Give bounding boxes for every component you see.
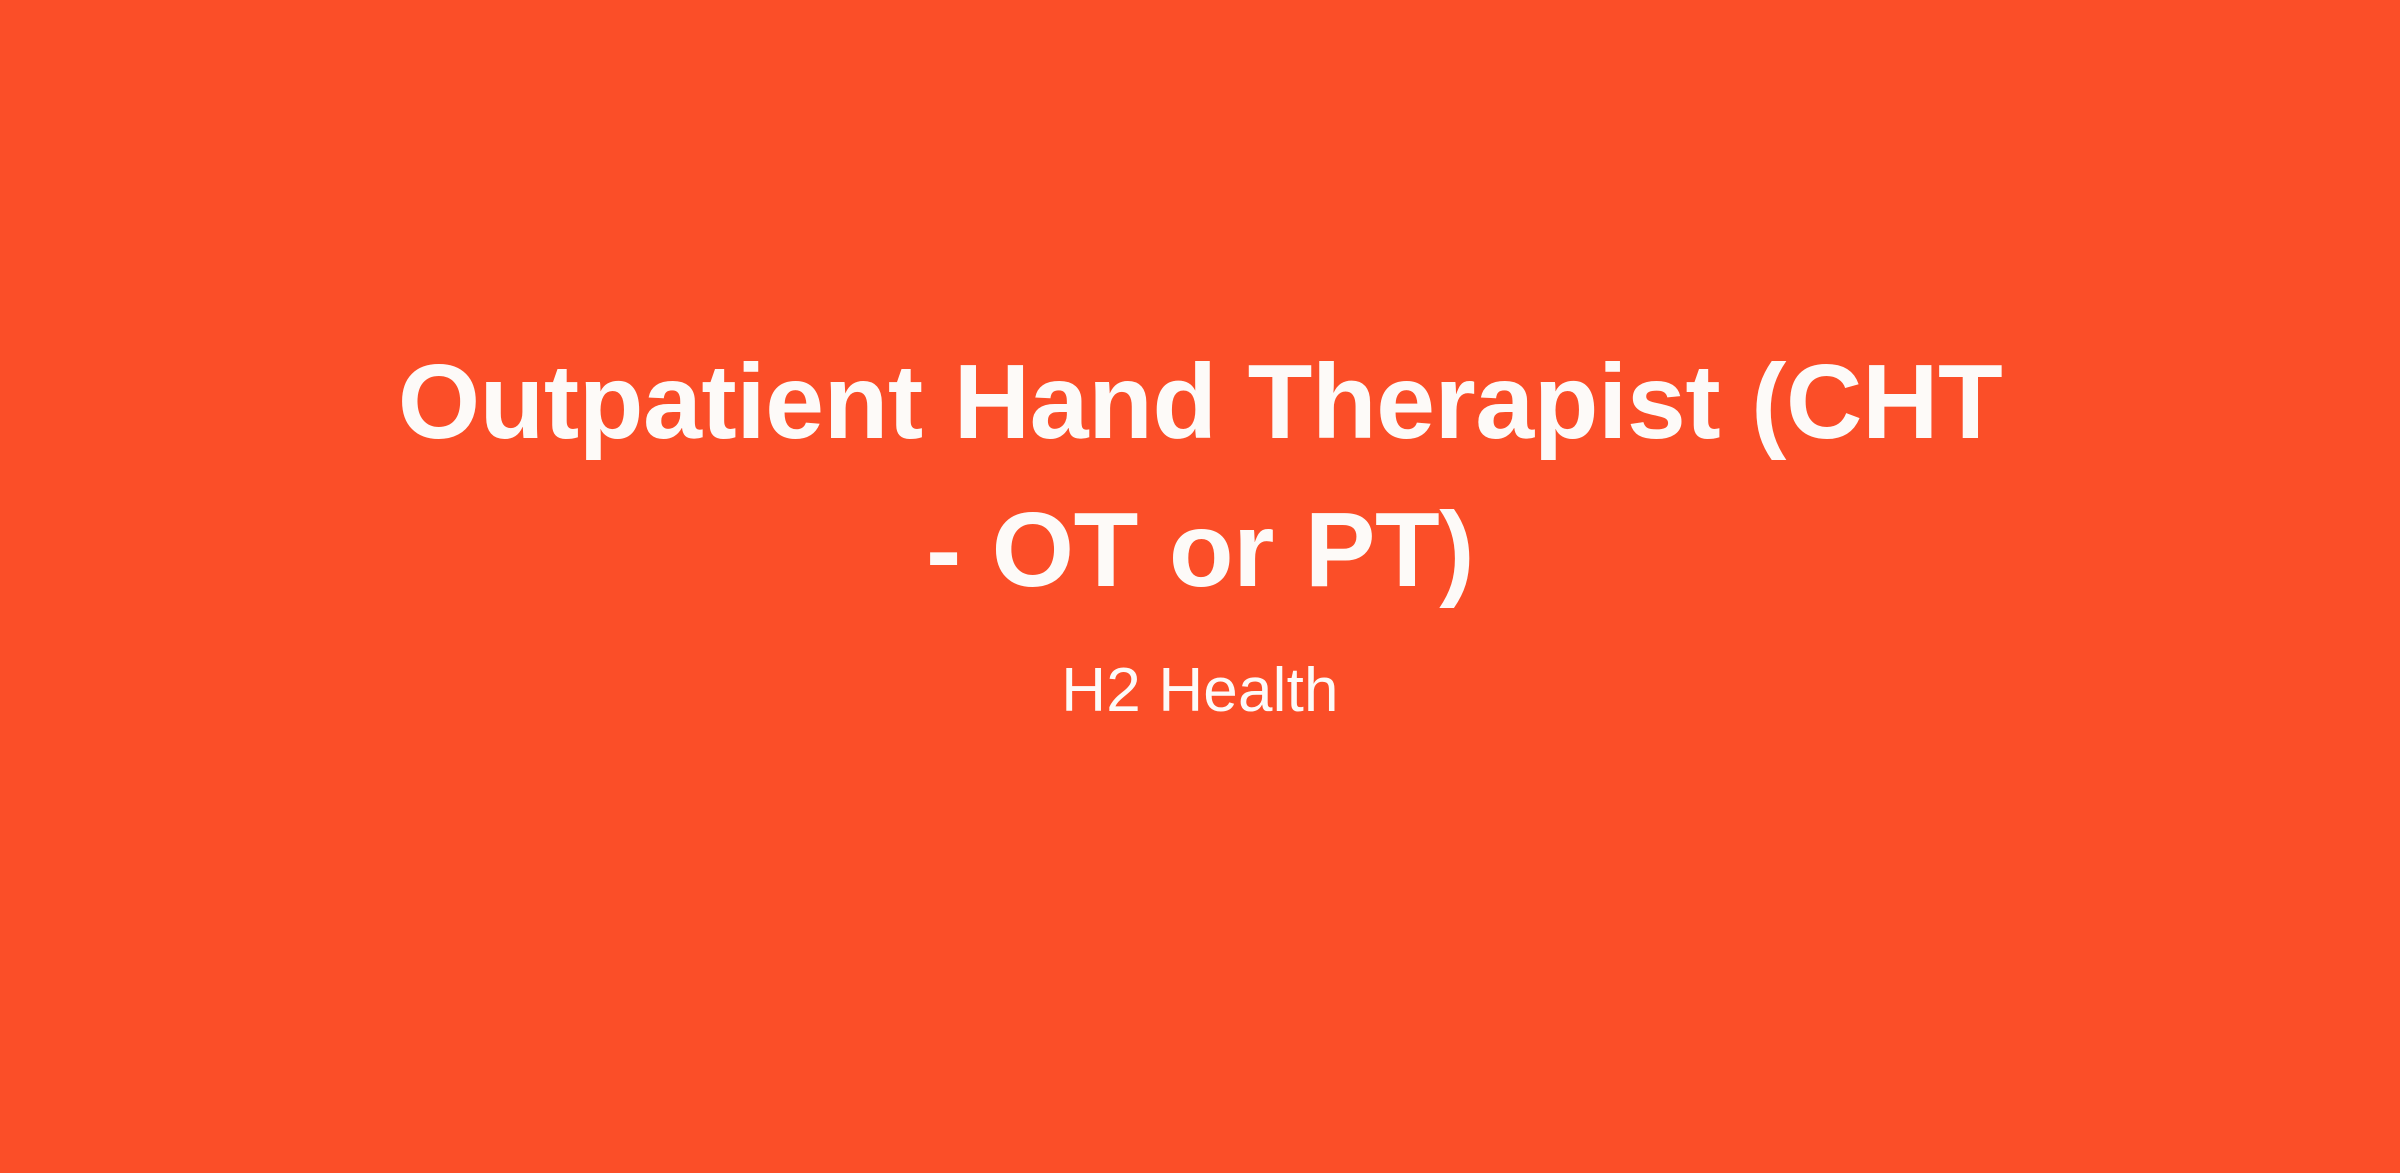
job-title: Outpatient Hand Therapist (CHT - OT or P…	[395, 328, 2005, 624]
job-posting-content: Outpatient Hand Therapist (CHT - OT or P…	[380, 328, 2020, 728]
job-posting-card: Outpatient Hand Therapist (CHT - OT or P…	[0, 0, 2400, 1173]
company-name: H2 Health	[1061, 654, 1339, 728]
